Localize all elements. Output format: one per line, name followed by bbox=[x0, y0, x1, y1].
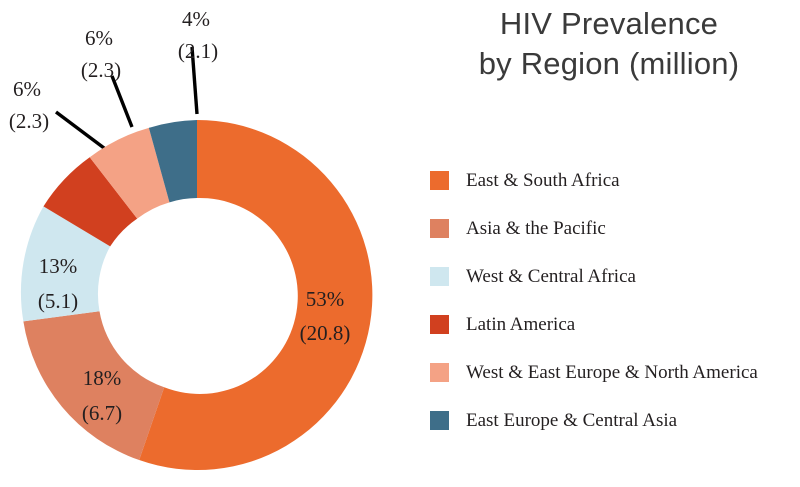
callout-value: (2.1) bbox=[178, 39, 218, 63]
callout-percent: 4% bbox=[182, 7, 210, 31]
leader-line-west-east-europe bbox=[112, 76, 132, 127]
legend-item-east-south-africa[interactable]: East & South Africa bbox=[430, 156, 800, 204]
legend-label: Asia & the Pacific bbox=[466, 219, 606, 238]
legend-label: East Europe & Central Asia bbox=[466, 411, 677, 430]
legend-label: Latin America bbox=[466, 315, 575, 334]
legend-label: East & South Africa bbox=[466, 171, 620, 190]
callout-label-west-east-europe: 6% (2.3) bbox=[81, 26, 121, 82]
callout-value: (2.3) bbox=[9, 109, 49, 133]
legend-label: West & Central Africa bbox=[466, 267, 636, 286]
chart-page: HIV Prevalence by Region (million) 53% (… bbox=[0, 0, 800, 487]
callout-value: (2.3) bbox=[81, 58, 121, 82]
legend-swatch-icon bbox=[430, 267, 449, 286]
callout-percent: 6% bbox=[85, 26, 113, 50]
legend-item-west-central-africa[interactable]: West & Central Africa bbox=[430, 252, 800, 300]
callout-label-east-europe-central-asia: 4% (2.1) bbox=[178, 7, 218, 63]
legend-item-asia-pacific[interactable]: Asia & the Pacific bbox=[430, 204, 800, 252]
donut-chart: 53% (20.8) 18% (6.7) 13% (5.1) 6% (2.3) … bbox=[0, 0, 400, 487]
legend-swatch-icon bbox=[430, 219, 449, 238]
callout-label-latin-america: 6% (2.3) bbox=[9, 77, 49, 133]
slice-label-percent: 18% bbox=[83, 366, 122, 390]
legend-item-west-east-europe-north-america[interactable]: West & East Europe & North America bbox=[430, 348, 800, 396]
legend-item-latin-america[interactable]: Latin America bbox=[430, 300, 800, 348]
slice-label-percent: 53% bbox=[306, 287, 345, 311]
legend-swatch-icon bbox=[430, 315, 449, 334]
slice-label-value: (6.7) bbox=[82, 401, 122, 425]
legend-swatch-icon bbox=[430, 363, 449, 382]
page-title: HIV Prevalence by Region (million) bbox=[420, 4, 798, 84]
slice-label-value: (5.1) bbox=[38, 289, 78, 313]
title-line-1: HIV Prevalence bbox=[420, 4, 798, 44]
legend-label: West & East Europe & North America bbox=[466, 363, 758, 382]
chart-legend: East & South Africa Asia & the Pacific W… bbox=[430, 156, 800, 444]
callout-percent: 6% bbox=[13, 77, 41, 101]
legend-swatch-icon bbox=[430, 171, 449, 190]
slice-label-value: (20.8) bbox=[300, 321, 351, 345]
slice-label-percent: 13% bbox=[39, 254, 78, 278]
legend-item-east-europe-central-asia[interactable]: East Europe & Central Asia bbox=[430, 396, 800, 444]
legend-swatch-icon bbox=[430, 411, 449, 430]
title-line-2: by Region (million) bbox=[420, 44, 798, 84]
